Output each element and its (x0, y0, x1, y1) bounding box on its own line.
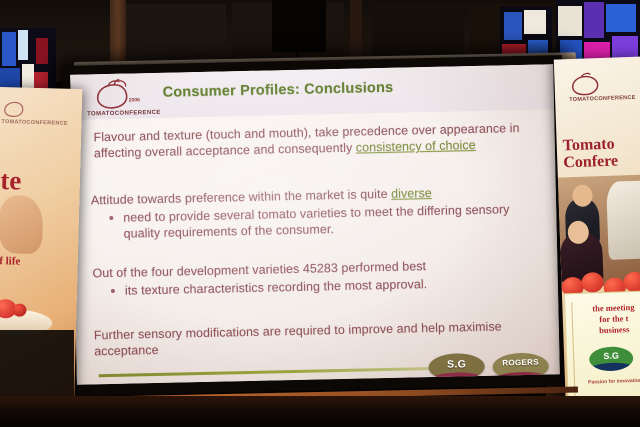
person-image (606, 180, 640, 259)
slide-body: Flavour and texture (touch and mouth), t… (71, 109, 560, 384)
card-fine-print: Passion for innovation (576, 377, 640, 386)
paragraph-highlight: consistency of choice (356, 138, 476, 155)
logo-wordmark: TOMATOCONFERENCE (87, 110, 161, 118)
ceiling-panel (372, 2, 464, 58)
projection-screen: 2006 TOMATOCONFERENCE Consumer Profiles:… (62, 55, 569, 396)
banner-left-logo: TOMATOCONFERENCE (1, 97, 62, 129)
logo-arc (589, 362, 634, 372)
card-tagline: the meeting for the t business (571, 301, 640, 337)
presentation-slide: 2006 TOMATOCONFERENCE Consumer Profiles:… (70, 64, 560, 384)
slide-paragraph-3: Out of the four development varieties 45… (92, 256, 545, 300)
slide-bullet: need to provide several tomato varieties… (91, 201, 544, 243)
tomato-outline-icon (2, 97, 29, 118)
paragraph-highlight: diverse (391, 186, 432, 201)
card-sg-label: S.G (589, 350, 633, 362)
slide-divider-rule (99, 367, 429, 377)
slide-paragraph-2: Attitude towards preference within the m… (91, 183, 544, 243)
bullet-dot-icon (109, 216, 113, 220)
banner-left-wordmark: TOMATOCONFERENCE (1, 119, 68, 127)
banner-hand-image (0, 195, 43, 254)
conference-hall-scene: 2006 TOMATOCONFERENCE Consumer Profiles:… (0, 0, 640, 427)
logo-year: 2006 (129, 97, 140, 103)
banner-right-headline: Tomato Confere (562, 135, 618, 171)
floor-foreground (0, 396, 640, 427)
tomato-outline-icon (568, 70, 603, 97)
banner-right-logo: TOMATOCONFERENCE (568, 69, 639, 109)
sponsor-logo-label: S.G (428, 358, 484, 371)
banner-right-wordmark: TOMATOCONFERENCE (569, 95, 636, 103)
banner-left-subline: of life (0, 255, 21, 268)
banner-left-headline: ste (0, 165, 22, 197)
ceiling-panel (126, 4, 226, 60)
screen-surface: 2006 TOMATOCONFERENCE Consumer Profiles:… (70, 64, 560, 384)
card-sg-logo: S.G (589, 346, 634, 372)
bullet-text: its texture characteristics recording th… (125, 277, 428, 298)
banner-right: TOMATOCONFERENCE Tomato Confere the meet… (554, 57, 640, 420)
bullet-text: need to provide several tomato varieties… (123, 202, 509, 240)
slide-paragraph-1: Flavour and texture (touch and mouth), t… (93, 120, 534, 162)
sponsor-logo-label: ROGERS (492, 357, 548, 367)
tomato-outline-icon (92, 77, 139, 110)
tomato-conference-logo: 2006 TOMATOCONFERENCE (86, 77, 165, 123)
bullet-dot-icon (111, 289, 115, 293)
hanging-speaker (272, 0, 326, 52)
